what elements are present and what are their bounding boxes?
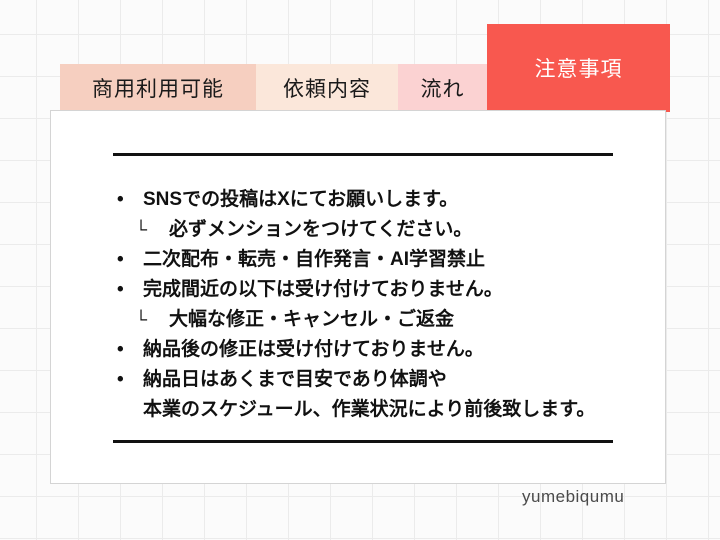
list-item-text: 完成間近の以下は受け付けておりません。: [143, 275, 503, 305]
watermark: yumebiqumu: [522, 487, 624, 507]
list-item: • 二次配布・転売・自作発言・AI学習禁止: [117, 245, 637, 275]
notes-list: • SNSでの投稿はXにてお願いします。 └ 必ずメンションをつけてください。 …: [117, 185, 637, 425]
list-item-text: 納品後の修正は受け付けておりません。: [143, 335, 484, 365]
bullet-icon: •: [117, 275, 143, 305]
list-item-text: SNSでの投稿はXにてお願いします。: [143, 185, 458, 215]
tab-notes[interactable]: 注意事項: [487, 24, 670, 112]
list-item-continuation: 本業のスケジュール、作業状況により前後致します。: [117, 395, 637, 425]
list-item: • 納品日はあくまで目安であり体調や: [117, 365, 637, 395]
bullet-icon: •: [117, 185, 143, 215]
list-item: • SNSでの投稿はXにてお願いします。: [117, 185, 637, 215]
list-item-text: 大幅な修正・キャンセル・ご返金: [169, 305, 454, 335]
corner-branch-icon: └: [135, 305, 169, 335]
divider-bottom: [113, 440, 613, 443]
tab-strip: 商用利用可能 依頼内容 流れ 注意事項: [0, 0, 720, 112]
list-item-text: 本業のスケジュール、作業状況により前後致します。: [143, 395, 595, 425]
list-item: └ 必ずメンションをつけてください。: [117, 215, 637, 245]
tab-flow[interactable]: 流れ: [398, 64, 487, 112]
content-card: • SNSでの投稿はXにてお願いします。 └ 必ずメンションをつけてください。 …: [50, 110, 666, 484]
tab-request[interactable]: 依頼内容: [256, 64, 398, 112]
tab-commercial[interactable]: 商用利用可能: [60, 64, 256, 112]
list-item: └ 大幅な修正・キャンセル・ご返金: [117, 305, 637, 335]
list-item-text: 必ずメンションをつけてください。: [169, 215, 472, 245]
bullet-icon: •: [117, 335, 143, 365]
corner-branch-icon: └: [135, 215, 169, 245]
divider-top: [113, 153, 613, 156]
bullet-icon: •: [117, 245, 143, 275]
list-item: • 完成間近の以下は受け付けておりません。: [117, 275, 637, 305]
bullet-icon: •: [117, 365, 143, 395]
list-item-text: 二次配布・転売・自作発言・AI学習禁止: [143, 245, 485, 275]
list-item: • 納品後の修正は受け付けておりません。: [117, 335, 637, 365]
list-item-text: 納品日はあくまで目安であり体調や: [143, 365, 447, 395]
